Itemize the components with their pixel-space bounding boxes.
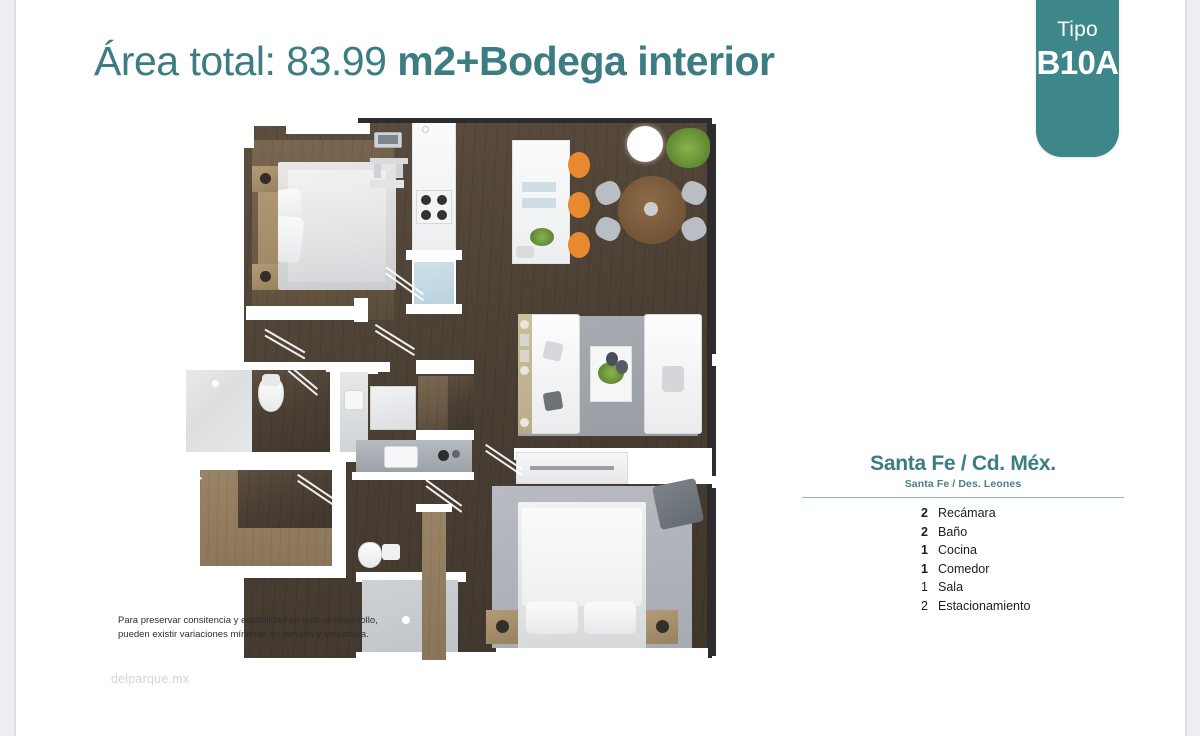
tipo-badge-code: B10A (1037, 44, 1119, 82)
spec-quantity: 1 (912, 543, 928, 557)
spec-row: 1Cocina (912, 543, 1124, 557)
spec-quantity: 1 (912, 562, 928, 576)
floorplan-image (166, 104, 736, 620)
spec-label: Sala (938, 580, 963, 594)
location-subheading: Santa Fe / Des. Leones (802, 478, 1124, 490)
spec-row: 2Baño (912, 525, 1124, 539)
spec-row: 2Recámara (912, 506, 1124, 520)
page-title: Área total: 83.99 m2+Bodega interior (94, 38, 774, 85)
location-heading: Santa Fe / Cd. Méx. (802, 452, 1124, 476)
spec-row: 1Sala (912, 580, 1124, 594)
spec-row: 2Estacionamiento (912, 599, 1124, 613)
spec-label: Recámara (938, 506, 996, 520)
page-right-margin (1185, 0, 1200, 736)
tipo-badge-label: Tipo (1057, 18, 1098, 42)
spec-quantity: 1 (912, 580, 928, 594)
location-info-panel: Santa Fe / Cd. Méx. Santa Fe / Des. Leon… (802, 452, 1124, 617)
spec-label: Estacionamiento (938, 599, 1030, 613)
page-left-margin (0, 0, 16, 736)
slide-page: Área total: 83.99 m2+Bodega interior Tip… (16, 0, 1185, 736)
title-bodega-text: m2+Bodega interior (397, 38, 774, 84)
spec-row: 1Comedor (912, 562, 1124, 576)
disclaimer-text: Para preservar consitencia y estabilidad… (118, 614, 448, 642)
spec-quantity: 2 (912, 525, 928, 539)
watermark: delparque.mx (111, 672, 189, 686)
spec-label: Baño (938, 525, 967, 539)
disclaimer-line-2: pueden existir variaciones mínimas en ta… (118, 628, 448, 642)
spec-quantity: 2 (912, 599, 928, 613)
spec-label: Comedor (938, 562, 989, 576)
disclaimer-line-1: Para preservar consitencia y estabilidad… (118, 614, 448, 628)
spec-quantity: 2 (912, 506, 928, 520)
slide-viewport: Área total: 83.99 m2+Bodega interior Tip… (0, 0, 1200, 736)
tipo-badge: Tipo B10A (1036, 0, 1119, 157)
info-divider (802, 497, 1124, 498)
title-area-value: Área total: 83.99 (94, 38, 397, 84)
spec-label: Cocina (938, 543, 977, 557)
spec-list: 2Recámara2Baño1Cocina1Comedor1Sala2Estac… (802, 506, 1124, 613)
